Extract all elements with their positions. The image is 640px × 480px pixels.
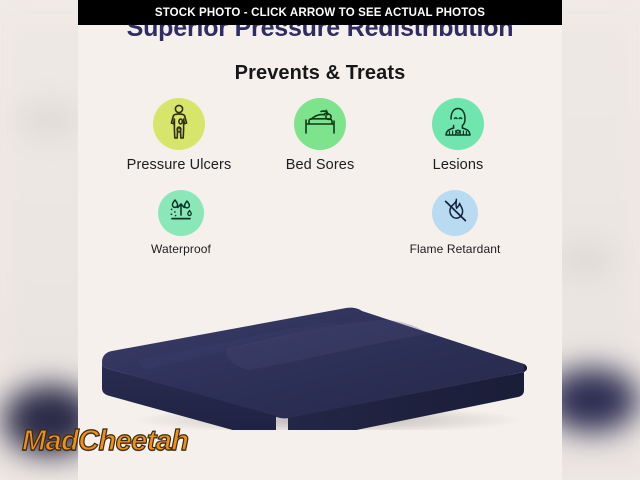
feature-label: Lesions (393, 157, 523, 173)
flame-crossed-out-icon (440, 196, 470, 231)
madcheetah-watermark: MadCheetah (22, 425, 188, 458)
section-subtitle: Prevents & Treats (78, 62, 562, 85)
feature-bubble (153, 98, 205, 150)
feature-bed-sores: Bed Sores (255, 98, 385, 173)
product-photo-panel[interactable]: Superior Pressure Redistribution Prevent… (78, 0, 562, 480)
person-in-bed-icon (302, 107, 338, 142)
body-pressure-points-icon (163, 104, 195, 145)
feature-label: Waterproof (116, 242, 246, 256)
feature-bubble (158, 190, 204, 236)
feature-pressure-ulcers: Pressure Ulcers (114, 98, 244, 173)
feature-waterproof: Waterproof (116, 190, 246, 256)
feature-label: Bed Sores (255, 157, 385, 173)
screenshot-stage: Superior Pressure Redistribution Prevent… (0, 0, 640, 480)
water-droplets-repel-icon (166, 196, 196, 231)
feature-bubble (294, 98, 346, 150)
product-image-navy-mattress (78, 300, 562, 430)
head-neck-lesion-icon (441, 105, 475, 144)
feature-bubble (432, 98, 484, 150)
feature-label: Flame Retardant (390, 242, 520, 256)
feature-flame-retardant: Flame Retardant (390, 190, 520, 256)
feature-lesions: Lesions (393, 98, 523, 173)
feature-bubble (432, 190, 478, 236)
feature-label: Pressure Ulcers (114, 157, 244, 173)
stock-photo-banner[interactable]: STOCK PHOTO - CLICK ARROW TO SEE ACTUAL … (78, 0, 562, 25)
